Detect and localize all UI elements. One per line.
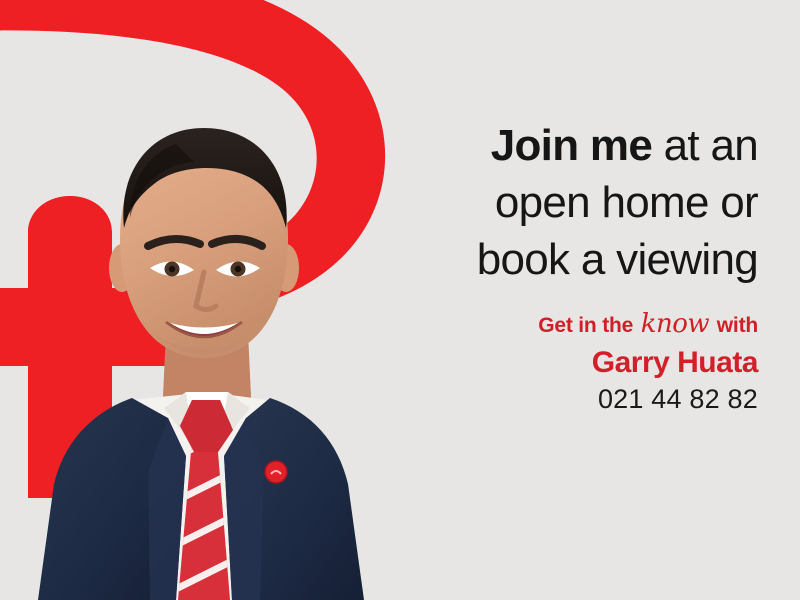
tagline: Get in the know with (358, 310, 758, 339)
headline-line1-bold: Join me (491, 121, 652, 170)
headline-line2: open home or (495, 178, 758, 227)
agent-portrait-photo (0, 100, 410, 600)
tagline-script-word: know (639, 309, 711, 339)
copy-block: Join me at an open home or book a viewin… (358, 118, 758, 415)
tagline-suffix: with (717, 314, 758, 337)
advertisement-banner: Join me at an open home or book a viewin… (0, 0, 800, 600)
headline: Join me at an open home or book a viewin… (358, 118, 758, 288)
tagline-prefix: Get in the (538, 314, 633, 337)
headline-line3: book a viewing (477, 235, 758, 284)
red-circular-lapel-pin (265, 461, 287, 483)
headline-line1-rest: at an (652, 121, 758, 170)
agent-name: Garry Huata (358, 346, 758, 379)
agent-phone[interactable]: 021 44 82 82 (358, 385, 758, 415)
